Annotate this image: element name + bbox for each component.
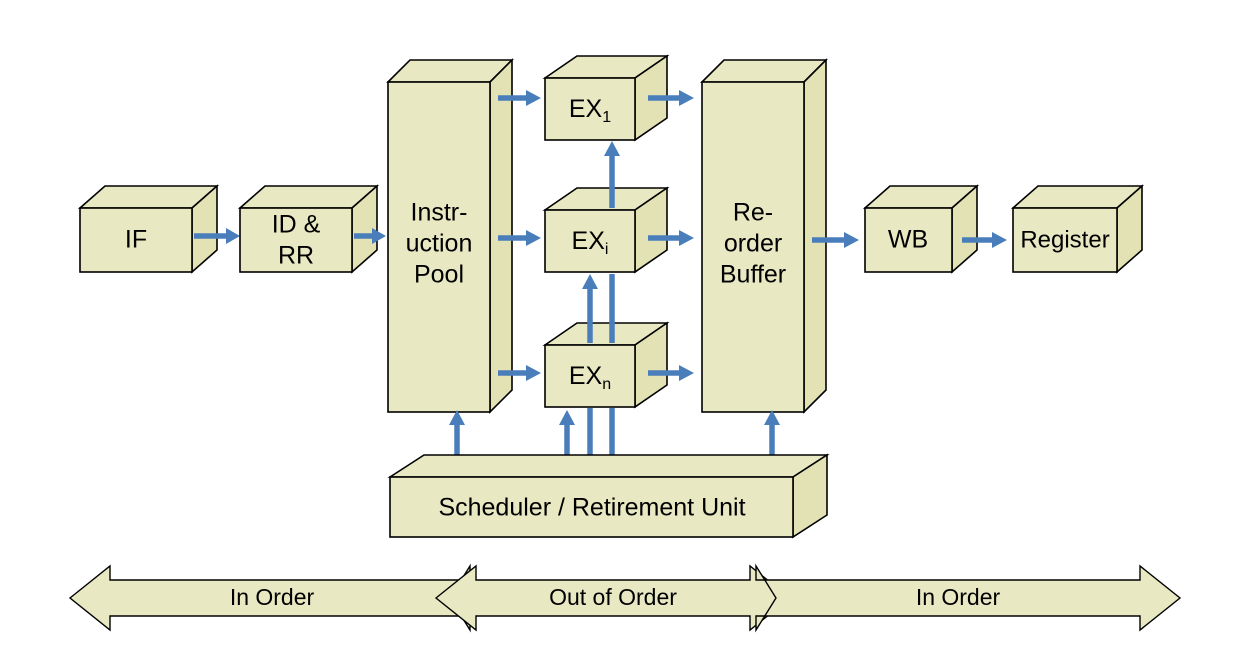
block-scheduler-label: Scheduler / Retirement Unit	[438, 494, 745, 522]
block-register-label: Register	[1020, 226, 1109, 253]
block-exi-label: EXi	[572, 227, 609, 259]
band-in-order-left-label: In Order	[230, 584, 315, 610]
block-ex1-label-sub: 1	[602, 109, 611, 126]
band-in-order-right: In Order	[756, 566, 1180, 630]
block-scheduler: Scheduler / Retirement Unit	[390, 455, 827, 537]
block-id-rr: ID & RR	[240, 186, 377, 272]
block-exi-label-base: EX	[572, 227, 606, 255]
block-exn-label-sub: n	[602, 376, 611, 393]
pipeline-diagram: IF ID & RR Instr- uction Pool	[0, 0, 1249, 661]
diagram-canvas: IF ID & RR Instr- uction Pool	[0, 0, 1249, 661]
block-instruction-pool: Instr- uction Pool	[388, 60, 512, 412]
block-exn: EXn	[545, 323, 667, 407]
block-if-label: IF	[125, 226, 147, 254]
block-if: IF	[80, 186, 217, 272]
block-instruction-pool-label-line3: Pool	[414, 261, 464, 289]
block-id-rr-label-line2: RR	[278, 242, 314, 270]
block-scheduler-top	[390, 455, 827, 477]
band-in-order-left: In Order	[70, 566, 470, 630]
block-exn-label-base: EX	[569, 362, 603, 390]
band-out-of-order-label: Out of Order	[549, 584, 677, 610]
block-instruction-pool-label-line2: uction	[406, 230, 473, 258]
block-exi: EXi	[545, 188, 667, 272]
block-register: Register	[1013, 186, 1142, 272]
block-id-rr-label-line1: ID &	[272, 211, 321, 239]
block-reorder-buffer-side	[804, 60, 826, 412]
block-reorder-buffer: Re- order Buffer	[702, 60, 826, 412]
block-wb: WB	[865, 186, 977, 272]
block-reorder-buffer-label-line2: order	[724, 230, 782, 258]
block-reorder-buffer-label-line1: Re-	[733, 199, 773, 227]
band-out-of-order: Out of Order	[436, 566, 790, 630]
block-ex1-label-base: EX	[569, 95, 603, 123]
block-reorder-buffer-label-line3: Buffer	[720, 261, 786, 289]
block-wb-label: WB	[888, 226, 928, 254]
block-instruction-pool-label-line1: Instr-	[411, 199, 468, 227]
block-exi-label-sub: i	[605, 241, 609, 258]
band-in-order-right-label: In Order	[916, 584, 1001, 610]
